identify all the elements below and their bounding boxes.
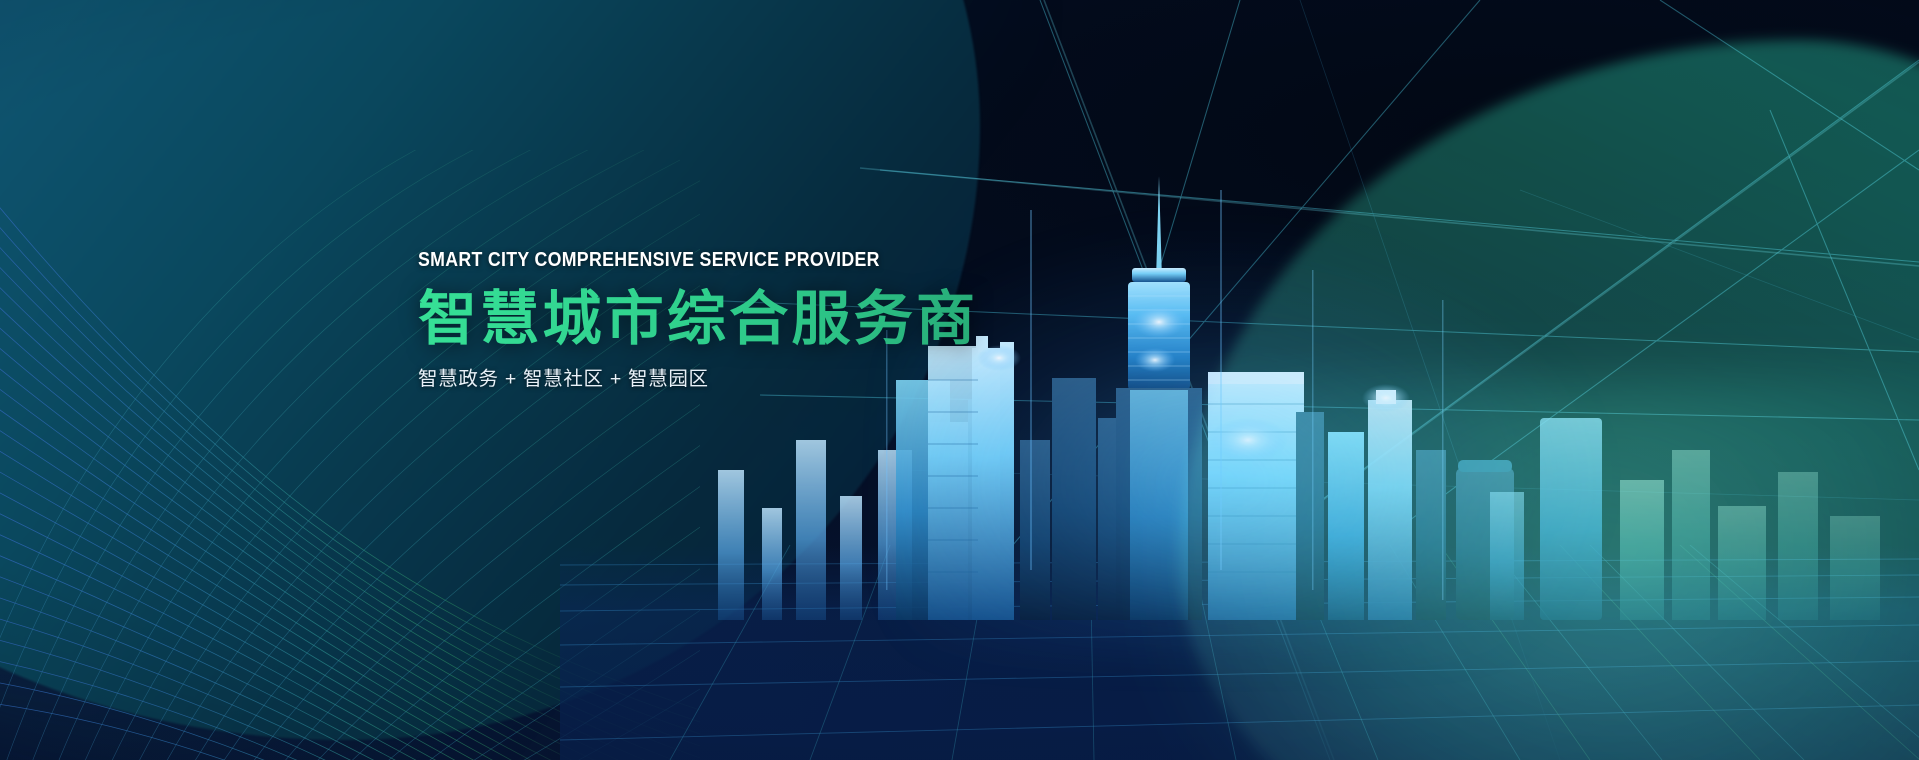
smart-city-hero-banner: SMART CITY COMPREHENSIVE SERVICE PROVIDE… <box>0 0 1919 760</box>
hero-subline-services: 智慧政务 + 智慧社区 + 智慧园区 <box>418 370 1178 390</box>
hero-eyebrow-english: SMART CITY COMPREHENSIVE SERVICE PROVIDE… <box>418 250 1075 271</box>
hero-copy-block: SMART CITY COMPREHENSIVE SERVICE PROVIDE… <box>418 250 1178 390</box>
hero-headline-chinese: 智慧城市综合服务商 <box>418 288 1178 352</box>
